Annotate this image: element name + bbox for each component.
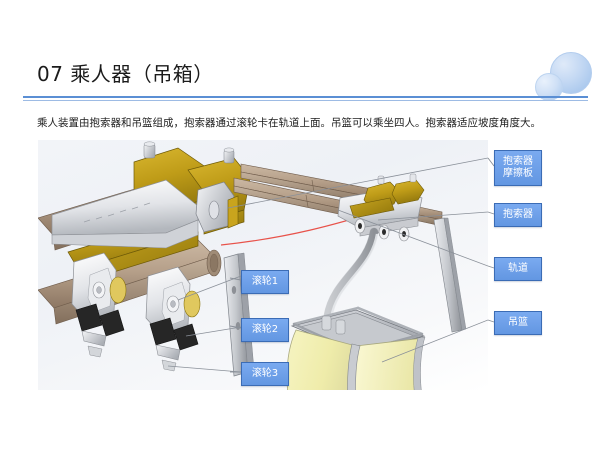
callout-roller-1[interactable]: 滚轮1 [241,270,289,294]
roller-carriage-2 [146,267,200,371]
title-divider-thin [23,100,588,101]
slide-canvas: 07 乘人器（吊箱） 乘人装置由抱索器和吊篮组成，抱索器通过滚轮卡在轨道上面。吊… [0,0,600,450]
page-title: 07 乘人器（吊箱） [37,58,214,87]
callout-roller-2[interactable]: 滚轮2 [241,318,289,342]
callout-cabin[interactable]: 吊篮 [494,311,542,335]
illustration-stage [38,140,488,390]
slide-subtitle: 乘人装置由抱索器和吊篮组成，抱索器通过滚轮卡在轨道上面。吊篮可以乘坐四人。抱索器… [37,116,577,130]
gondola-cabin [287,308,425,390]
callout-roller-3[interactable]: 滚轮3 [241,362,289,386]
title-divider-thick [23,96,588,98]
support-post-right [434,218,466,332]
callout-gripper[interactable]: 抱索器 [494,203,542,227]
callout-friction-plate[interactable]: 抱索器 摩擦板 [494,150,542,186]
friction-plate-panel [52,180,198,248]
cad-illustration [38,140,488,390]
callout-track[interactable]: 轨道 [494,257,542,281]
